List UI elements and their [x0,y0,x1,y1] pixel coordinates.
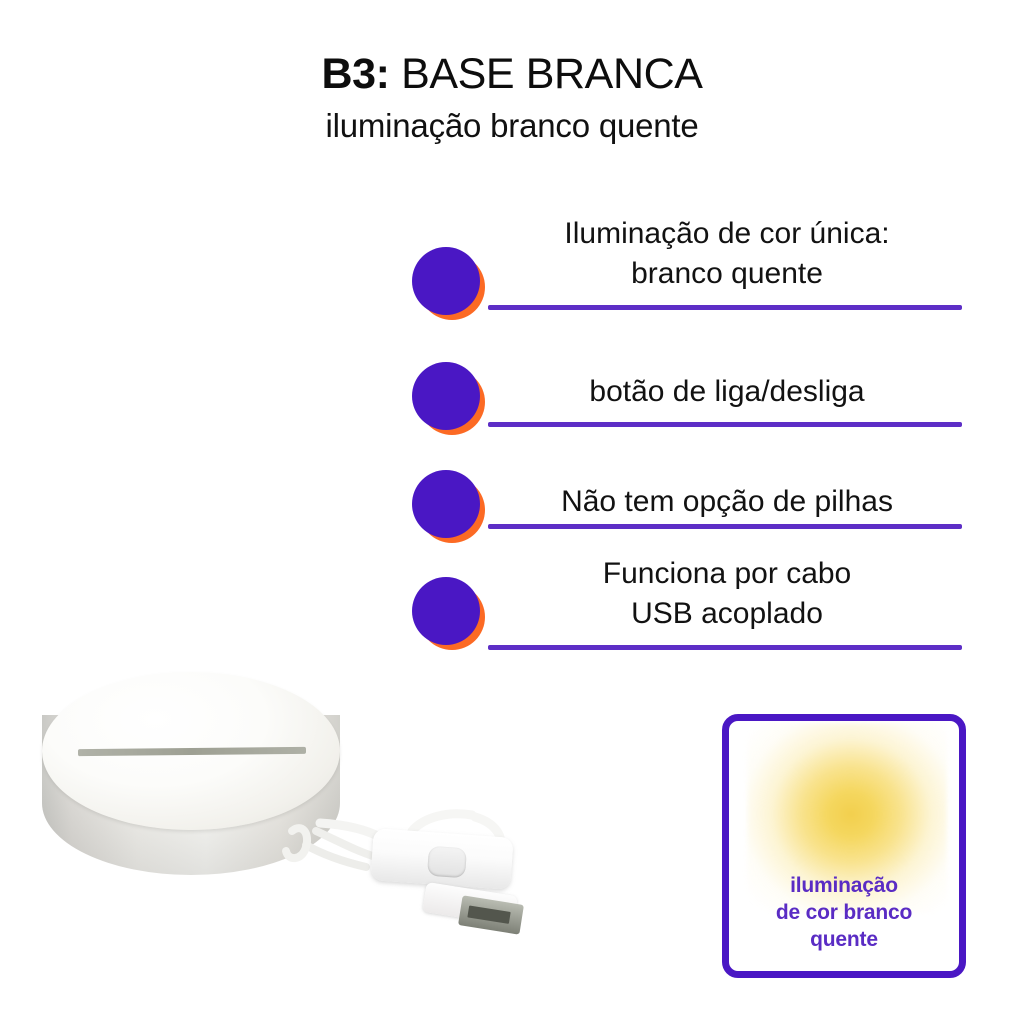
color-callout-card: iluminação de cor branco quente [722,714,966,978]
bullet-circle [412,247,480,315]
bullet-circle [412,362,480,430]
page-title: B3: BASE BRANCA [0,48,1024,100]
feature-divider [488,422,962,427]
header: B3: BASE BRANCA iluminação branco quente [0,48,1024,146]
feature-text: botão de liga/desliga [488,372,966,412]
feature-text-line: botão de liga/desliga [488,372,966,412]
callout-label: iluminação de cor branco quente [729,872,959,953]
callout-label-line: iluminação [729,872,959,899]
feature-text: Iluminação de cor única: branco quente [488,214,966,294]
callout-label-line: de cor branco [729,899,959,926]
feature-text: Não tem opção de pilhas [488,482,966,522]
page-subtitle: iluminação branco quente [0,106,1024,146]
feature-text-line: Iluminação de cor única: [488,214,966,254]
page-title-code: B3: [321,50,389,98]
feature-text-line: USB acoplado [488,594,966,634]
feature-text-line: Não tem opção de pilhas [488,482,966,522]
bullet-circle [412,470,480,538]
feature-list: Iluminação de cor única: branco quente b… [406,214,972,664]
feature-text-line: branco quente [488,254,966,294]
product-photo [20,655,560,975]
bullet-dot-icon [412,577,480,645]
bullet-dot-icon [412,247,480,315]
feature-divider [488,305,962,310]
feature-divider [488,645,962,650]
bullet-dot-icon [412,362,480,430]
page-title-main: BASE BRANCA [390,50,703,98]
feature-text-line: Funciona por cabo [488,554,966,594]
power-button-icon[interactable] [427,846,467,879]
feature-text: Funciona por cabo USB acoplado [488,554,966,634]
bullet-dot-icon [412,470,480,538]
slide-canvas: B3: BASE BRANCA iluminação branco quente… [0,0,1024,1024]
feature-divider [488,524,962,529]
bullet-circle [412,577,480,645]
callout-label-line: quente [729,926,959,953]
